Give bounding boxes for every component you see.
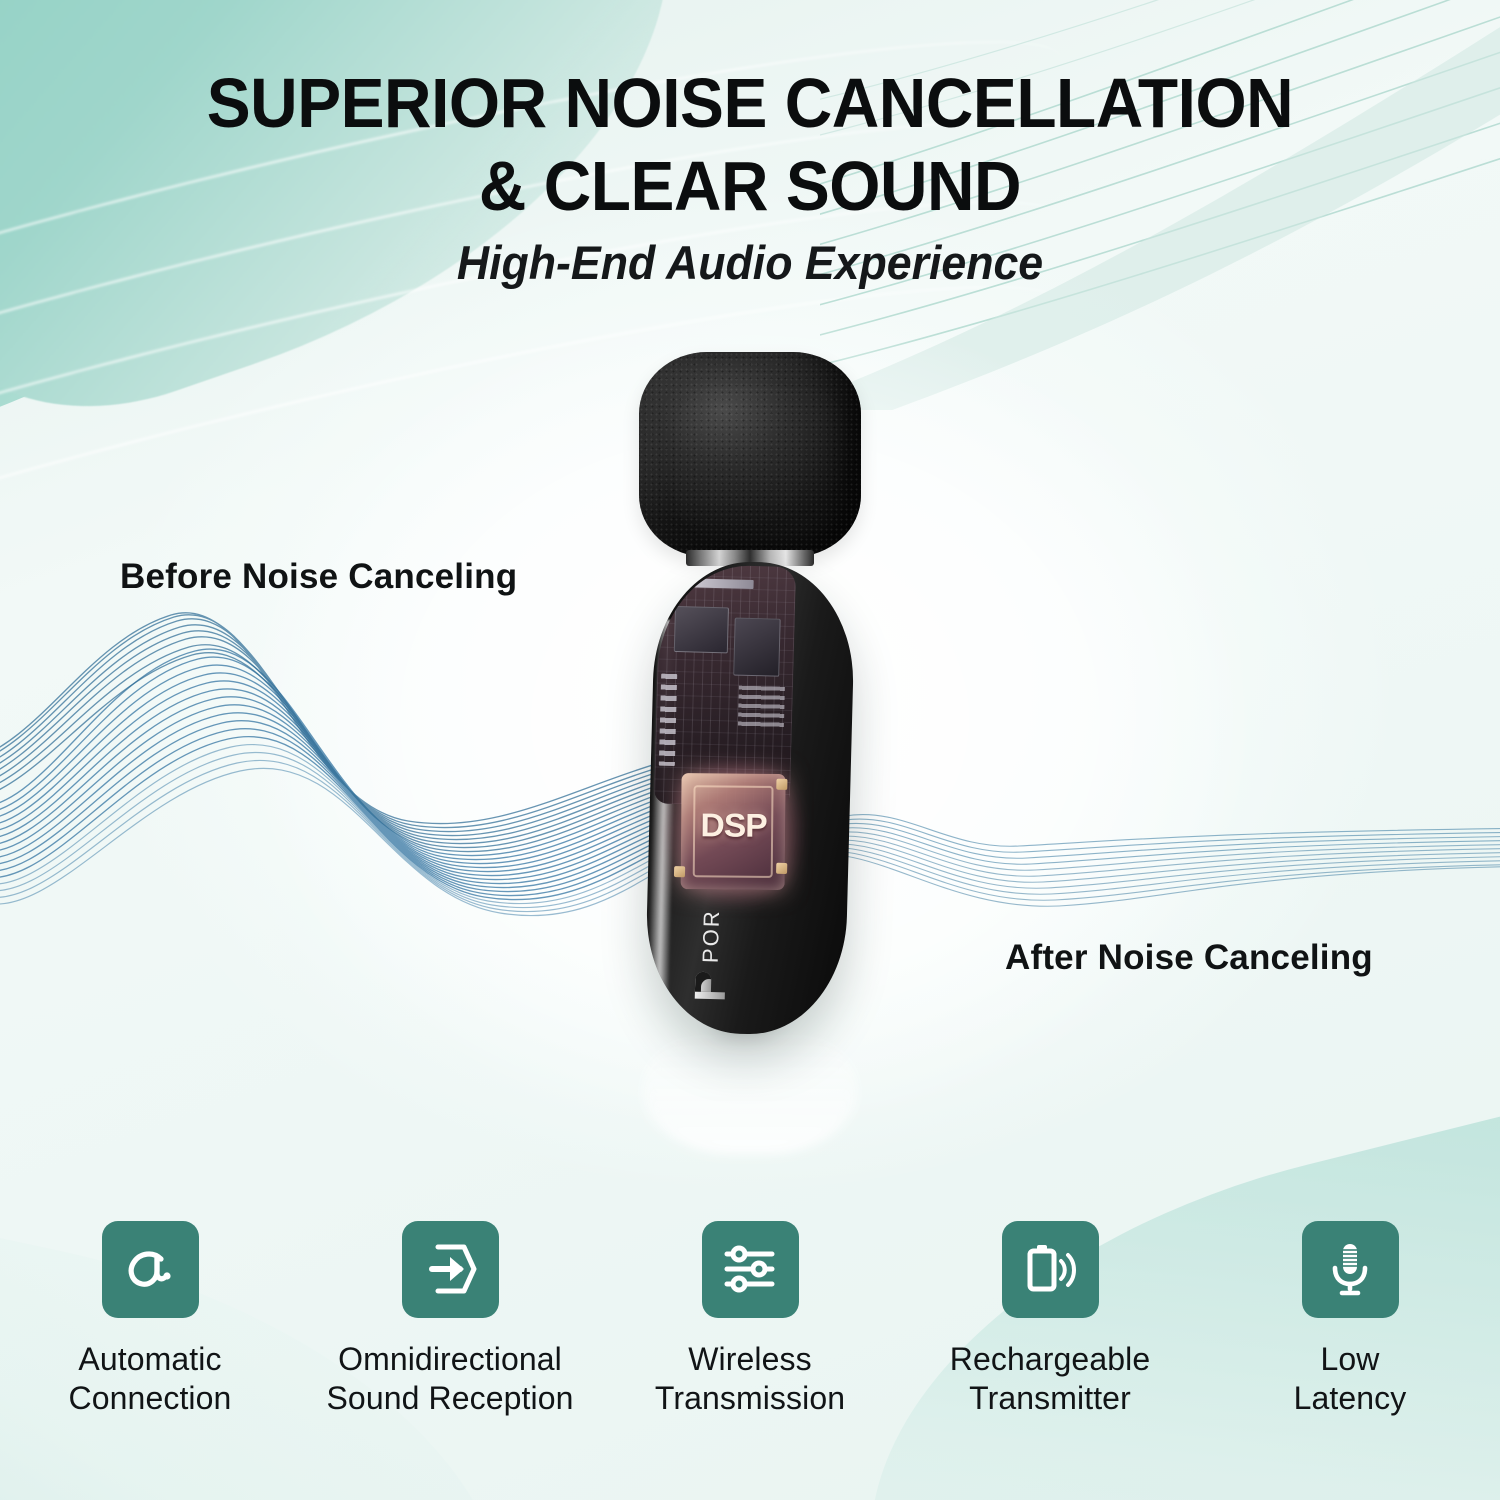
dsp-pin-2 (776, 863, 787, 874)
feature-icon-tile (1302, 1221, 1399, 1318)
feature-label: Rechargeable Transmitter (950, 1340, 1150, 1418)
waveform-after-noise-canceling (845, 770, 1500, 950)
feature-icon-tile (702, 1221, 799, 1318)
p-logo-icon (695, 972, 726, 1000)
feature-icon-tile (402, 1221, 499, 1318)
pcb-chip-b (733, 618, 781, 677)
feature-item-low-latency: Low Latency (1200, 1221, 1500, 1418)
feature-icon-tile (102, 1221, 199, 1318)
mic-transmitter-body: DSP POR (644, 559, 856, 1036)
feature-item-rechargeable-transmitter: Rechargeable Transmitter (900, 1221, 1200, 1418)
feature-label: Omnidirectional Sound Reception (326, 1340, 573, 1418)
feature-item-wireless-transmission: Wireless Transmission (600, 1221, 900, 1418)
feature-list: Automatic Connection Omnidirectional Sou… (0, 1221, 1500, 1418)
product-reflection (643, 1024, 858, 1154)
sliders-icon (720, 1239, 780, 1299)
product-image: DSP POR (585, 352, 915, 1112)
feature-label: Automatic Connection (69, 1340, 232, 1418)
before-noise-canceling-label: Before Noise Canceling (120, 557, 517, 597)
microphone-icon (1320, 1239, 1380, 1299)
mic-windscreen (639, 352, 861, 557)
product-feature-poster: SUPERIOR NOISE CANCELLATION & CLEAR SOUN… (0, 0, 1500, 1500)
headline-line-2: & CLEAR SOUND (45, 145, 1455, 228)
brand-logo: POR (655, 868, 768, 1001)
brand-name: POR (698, 909, 725, 963)
pcb-pad-row-right (738, 686, 785, 731)
arrow-into-hexagon-icon (420, 1239, 480, 1299)
after-noise-canceling-label: After Noise Canceling (1005, 938, 1373, 978)
pcb-pad-row-left (659, 674, 677, 766)
feature-icon-tile (1002, 1221, 1099, 1318)
page-subtitle: High-End Audio Experience (38, 235, 1463, 290)
dsp-pin-3 (776, 779, 787, 790)
dsp-chip-label: DSP (700, 806, 766, 845)
feature-label: Low Latency (1294, 1340, 1407, 1418)
headline-line-1: SUPERIOR NOISE CANCELLATION (45, 62, 1455, 145)
feature-label: Wireless Transmission (655, 1340, 845, 1418)
battery-signal-icon (1020, 1239, 1080, 1299)
feature-item-omnidirectional-sound-reception: Omnidirectional Sound Reception (300, 1221, 600, 1418)
pcb-chip-a (674, 606, 729, 653)
feature-item-automatic-connection: Automatic Connection (0, 1221, 300, 1418)
at-connection-icon (120, 1239, 180, 1299)
page-title: SUPERIOR NOISE CANCELLATION & CLEAR SOUN… (0, 62, 1500, 227)
pcb-connector (681, 578, 753, 589)
